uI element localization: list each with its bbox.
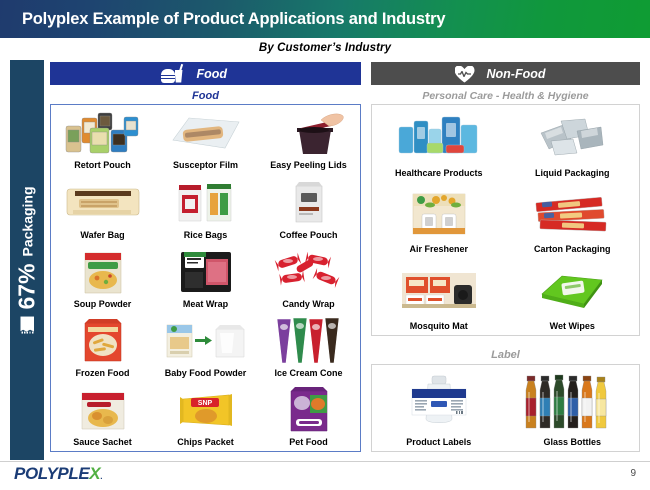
product-liquid-packaging[interactable]: Liquid Packaging — [506, 105, 640, 182]
healthcare-products-image — [372, 105, 506, 169]
product-label: Wet Wipes — [550, 322, 595, 332]
svg-text:SNP: SNP — [197, 400, 212, 407]
product-healthcare-products[interactable]: Healthcare Products — [372, 105, 506, 182]
section-title-label: Label — [371, 349, 640, 361]
product-label: Rice Bags — [184, 231, 228, 241]
product-label: Liquid Packaging — [535, 169, 610, 179]
ice-cream-cone-image — [257, 313, 360, 369]
product-baby-food-powder[interactable]: Baby Food Powder — [154, 313, 257, 382]
subheadline: By Customer’s Industry — [0, 42, 650, 60]
retort-pouch-image — [51, 105, 154, 161]
product-label: Frozen Food — [76, 369, 130, 379]
product-sauce-sachet[interactable]: Sauce Sachet — [51, 382, 154, 451]
product-label: Chips Packet — [177, 438, 234, 448]
pet-food-image — [257, 382, 360, 438]
product-pet-food[interactable]: Pet Food — [257, 382, 360, 451]
product-ice-cream-cone[interactable]: Ice Cream Cone — [257, 313, 360, 382]
packaging-sidebar: 67% Packaging — [10, 60, 44, 460]
polyplex-logo: POLYPLEX. — [14, 464, 102, 484]
product-wafer-bag[interactable]: Wafer Bag — [51, 174, 154, 243]
product-coffee-pouch[interactable]: Coffee Pouch — [257, 174, 360, 243]
meat-wrap-image — [154, 243, 257, 299]
coffee-pouch-image — [257, 174, 360, 230]
food-products-panel: Retort Pouch Susceptor Film — [50, 104, 361, 452]
product-air-freshener[interactable]: Air Freshener — [372, 182, 506, 259]
product-soup-powder[interactable]: Soup Powder — [51, 243, 154, 312]
susceptor-film-image — [154, 105, 257, 161]
product-meat-wrap[interactable]: Meat Wrap — [154, 243, 257, 312]
header-banner: Polyplex Example of Product Applications… — [0, 0, 650, 38]
product-label: Carton Packaging — [534, 245, 611, 255]
product-label: Healthcare Products — [395, 169, 483, 179]
product-label: Ice Cream Cone — [274, 369, 342, 379]
product-label: Wafer Bag — [80, 231, 124, 241]
candy-wrap-image — [257, 243, 360, 299]
glass-bottles-image — [506, 365, 640, 438]
page-number: 9 — [630, 468, 636, 479]
product-label: Coffee Pouch — [279, 231, 337, 241]
product-label: Product Labels — [406, 438, 471, 448]
product-carton-packaging[interactable]: Carton Packaging — [506, 182, 640, 259]
product-product-labels[interactable]: Product Labels — [372, 365, 506, 451]
logo-accent-x: X — [89, 464, 100, 483]
product-label: Soup Powder — [74, 300, 132, 310]
packaging-percent: 67% — [16, 263, 39, 309]
column-header-food[interactable]: Food — [50, 62, 361, 85]
slide: Polyplex Example of Product Applications… — [0, 0, 650, 490]
burger-drink-icon — [161, 65, 185, 83]
product-easy-peeling-lids[interactable]: Easy Peeling Lids — [257, 105, 360, 174]
product-wet-wipes[interactable]: Wet Wipes — [506, 258, 640, 335]
label-product-grid: Product Labels — [372, 365, 639, 451]
mosquito-mat-image — [372, 258, 506, 322]
personal-care-panel: Healthcare Products — [371, 104, 640, 336]
product-label: Retort Pouch — [74, 161, 131, 171]
carton-packaging-image — [506, 182, 640, 246]
column-header-food-label: Food — [197, 67, 317, 81]
product-label: Glass Bottles — [543, 438, 601, 448]
heart-pulse-icon — [455, 65, 475, 83]
air-freshener-image — [372, 182, 506, 246]
product-susceptor-film[interactable]: Susceptor Film — [154, 105, 257, 174]
logo-trademark: . — [100, 472, 102, 481]
personal-care-product-grid: Healthcare Products — [372, 105, 639, 335]
column-header-nonfood[interactable]: Non-Food — [371, 62, 640, 85]
product-label: Easy Peeling Lids — [270, 161, 347, 171]
product-candy-wrap[interactable]: Candy Wrap — [257, 243, 360, 312]
product-label: Susceptor Film — [173, 161, 238, 171]
product-retort-pouch[interactable]: Retort Pouch — [51, 105, 154, 174]
soup-powder-image — [51, 243, 154, 299]
wafer-bag-image — [51, 174, 154, 230]
wet-wipes-image — [506, 258, 640, 322]
footer-divider — [0, 461, 650, 462]
liquid-packaging-image — [506, 105, 640, 169]
page-title: Polyplex Example of Product Applications… — [0, 10, 445, 29]
package-icon — [20, 317, 34, 334]
section-title-food: Food — [50, 90, 361, 102]
product-label: Mosquito Mat — [410, 322, 468, 332]
product-label: Pet Food — [289, 438, 328, 448]
chips-packet-image: SNP — [154, 382, 257, 438]
baby-food-powder-image — [154, 313, 257, 369]
logo-text: POLYPLE — [14, 464, 89, 483]
product-label: Baby Food Powder — [165, 369, 247, 379]
product-label: Meat Wrap — [183, 300, 228, 310]
frozen-food-image — [51, 313, 154, 369]
label-products-panel: Product Labels — [371, 364, 640, 452]
pulse-line-icon — [458, 71, 471, 77]
product-mosquito-mat[interactable]: Mosquito Mat — [372, 258, 506, 335]
product-frozen-food[interactable]: Frozen Food — [51, 313, 154, 382]
food-product-grid: Retort Pouch Susceptor Film — [51, 105, 360, 451]
product-glass-bottles[interactable]: Glass Bottles — [506, 365, 640, 451]
product-label: Candy Wrap — [282, 300, 334, 310]
product-chips-packet[interactable]: SNP Chips Packet — [154, 382, 257, 451]
rice-bags-image — [154, 174, 257, 230]
product-labels-image — [372, 365, 506, 438]
product-rice-bags[interactable]: Rice Bags — [154, 174, 257, 243]
product-label: Sauce Sachet — [73, 438, 132, 448]
packaging-label: Packaging — [20, 186, 34, 256]
product-label: Air Freshener — [409, 245, 468, 255]
easy-peeling-lids-image — [257, 105, 360, 161]
column-header-nonfood-label: Non-Food — [487, 67, 607, 81]
sauce-sachet-image — [51, 382, 154, 438]
section-title-personal-care: Personal Care - Health & Hygiene — [371, 90, 640, 102]
